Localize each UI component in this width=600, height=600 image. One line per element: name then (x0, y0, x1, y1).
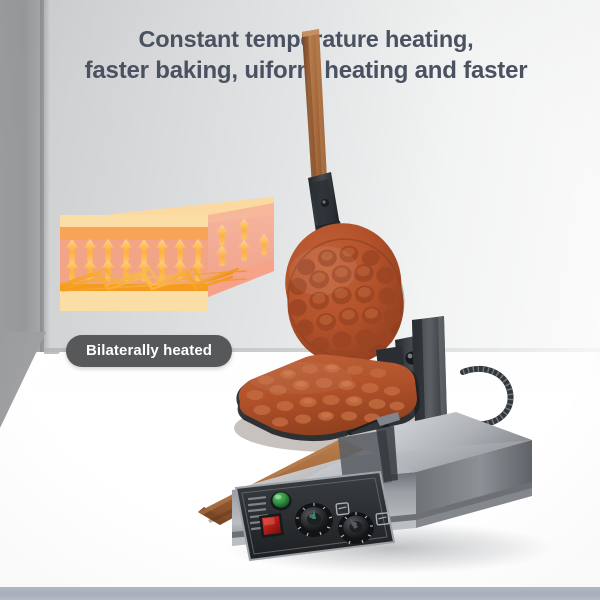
upper-wooden-handle (302, 29, 327, 186)
thermostat-knob (338, 512, 374, 544)
green-power-button (271, 492, 292, 511)
timer-knob (295, 503, 333, 537)
red-rocker-switch (259, 513, 284, 538)
product-photo-waffle-maker (180, 20, 580, 580)
product-marketing-image: Constant temperature heating, faster bak… (0, 0, 600, 600)
bottom-accent-bar (0, 587, 600, 600)
studio-left-wall (0, 0, 44, 352)
